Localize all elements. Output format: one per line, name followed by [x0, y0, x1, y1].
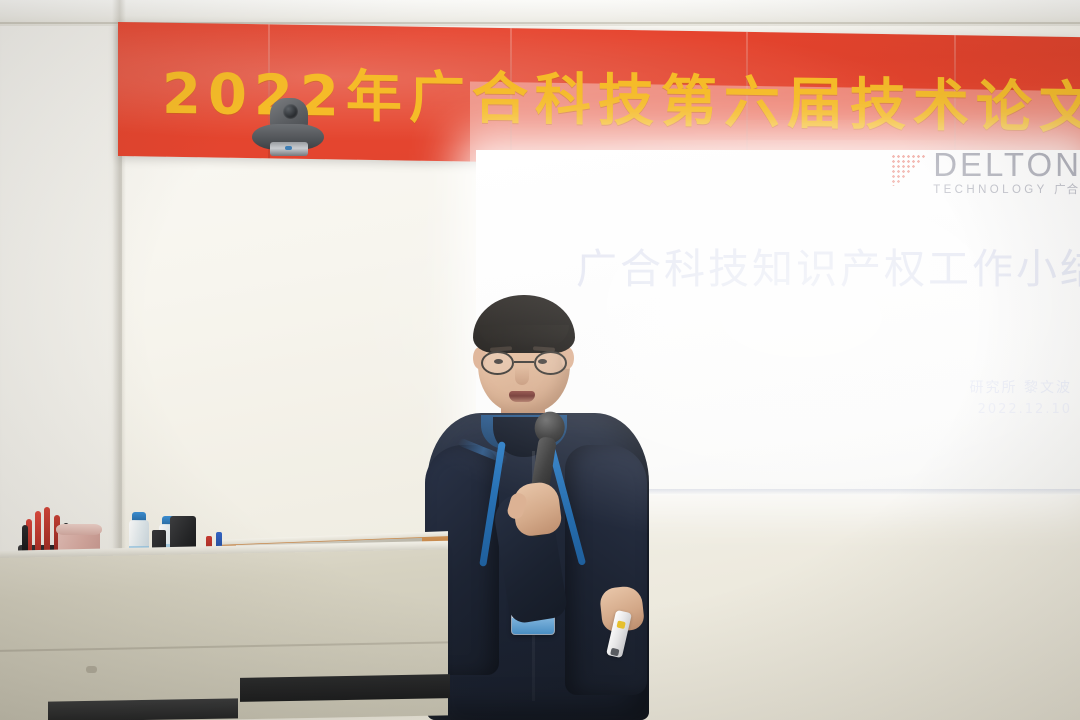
glasses-bridge — [514, 361, 534, 363]
logo-dot-grid-icon — [891, 154, 925, 186]
podium-base-slot — [48, 698, 238, 720]
presenter-figure — [415, 295, 665, 720]
pointer-button-icon — [616, 620, 625, 629]
podium-latch — [86, 666, 97, 673]
slide-title: 广合科技知识产权工作小结 — [576, 235, 1080, 295]
slide-date: 2022.12.10 — [970, 400, 1072, 420]
camera-lens-icon — [283, 104, 298, 119]
logo-wordmark: DELTON — [933, 148, 1080, 181]
red-marker — [44, 507, 50, 555]
glasses-lens-left — [481, 351, 514, 375]
red-marker — [35, 511, 41, 555]
camera-led-indicator — [285, 146, 292, 150]
podium-lower-slot — [240, 674, 450, 702]
photo-stage: 2022年广合科技第六届技术论文评审暨知 DELTON TECHNOLOGY 广… — [0, 0, 1080, 720]
slide-byline: 研究所 黎文波 2022.12.10 — [970, 378, 1072, 420]
pink-cup-lid — [56, 524, 102, 535]
ptz-camera — [252, 98, 324, 160]
pointer-tip — [610, 648, 619, 657]
logo-tagline-latin: TECHNOLOGY — [933, 184, 1047, 196]
presenter-nose — [515, 367, 529, 385]
glasses-lens-right — [534, 351, 567, 375]
slide-presenter: 研究所 黎文波 — [970, 378, 1072, 400]
presenter-hair — [473, 295, 575, 353]
logo-tagline-cn: 广合 — [1054, 184, 1079, 196]
logo-tagline: TECHNOLOGY 广合 — [933, 185, 1080, 197]
presenter-mouth — [509, 391, 535, 402]
delton-logo: DELTON TECHNOLOGY 广合 — [891, 148, 1080, 197]
